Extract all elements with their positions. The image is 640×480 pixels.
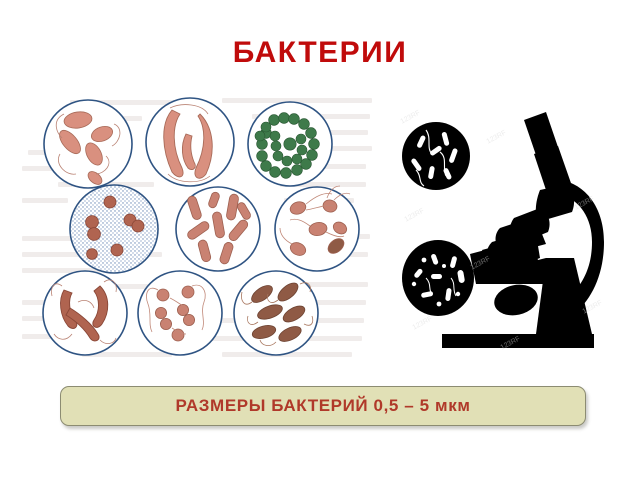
dark-field-view-mixed <box>402 240 474 316</box>
dark-field-view-rods <box>402 122 470 190</box>
slide-canvas: БАКТЕРИИ <box>0 0 640 480</box>
microscope-illustration: 123RF 123RF 123RF 123RF 123RF 123RF 123R… <box>396 108 608 360</box>
bacteria-fields-svg <box>22 94 400 362</box>
microscope-svg <box>396 108 608 360</box>
bacteria-illustration <box>22 94 400 362</box>
size-caption-text: РАЗМЕРЫ БАКТЕРИЙ 0,5 – 5 мкм <box>175 396 470 416</box>
page-title: БАКТЕРИИ <box>0 36 640 70</box>
size-caption-box: РАЗМЕРЫ БАКТЕРИЙ 0,5 – 5 мкм <box>60 386 586 426</box>
field-stippled-cocci <box>71 186 157 272</box>
